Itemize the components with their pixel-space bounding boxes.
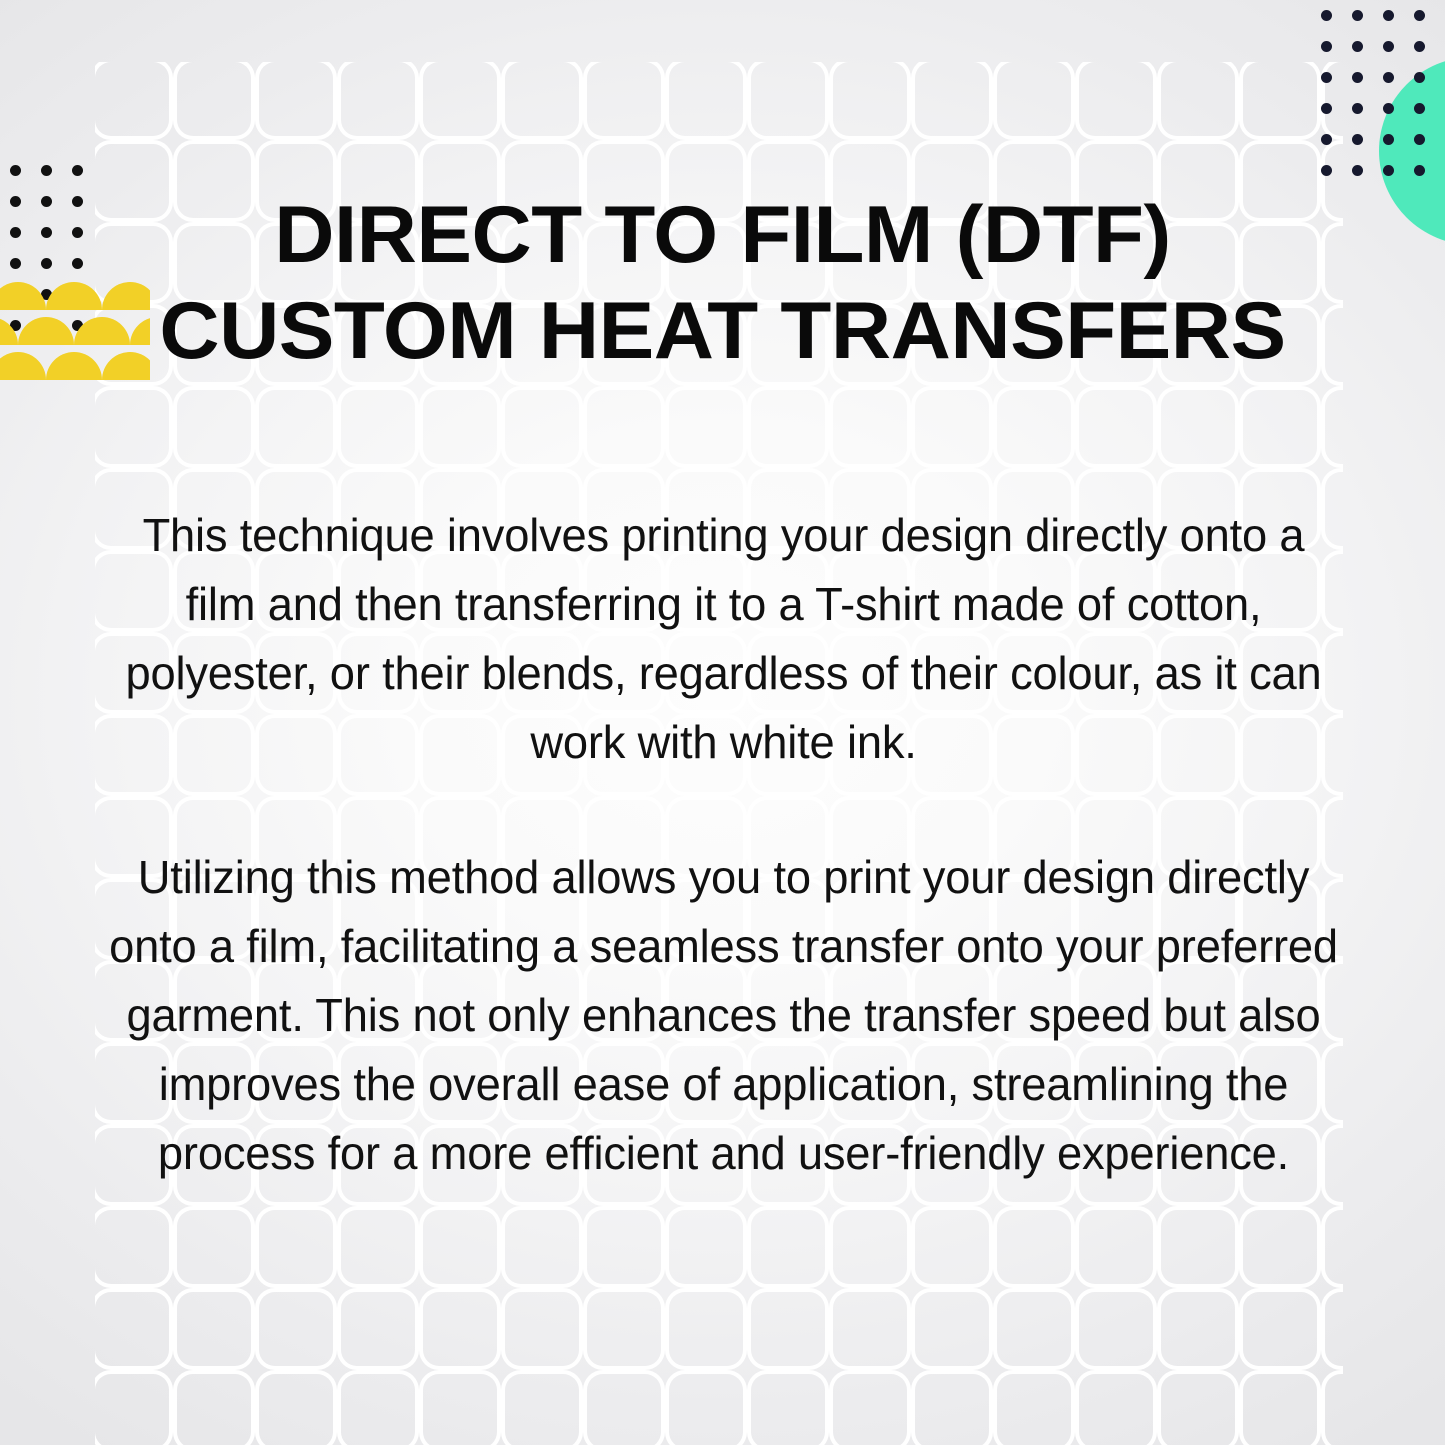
- page-title-line-1: DIRECT TO FILM (DTF): [102, 187, 1343, 283]
- body-paragraph-1: This technique involves printing your de…: [105, 501, 1341, 777]
- page-title-line-2: CUSTOM HEAT TRANSFERS: [102, 283, 1343, 379]
- page-title: DIRECT TO FILM (DTF) CUSTOM HEAT TRANSFE…: [102, 187, 1343, 379]
- poster-canvas: DIRECT TO FILM (DTF) CUSTOM HEAT TRANSFE…: [0, 0, 1445, 1445]
- body-paragraph-2: Utilizing this method allows you to prin…: [105, 843, 1341, 1188]
- poster-content: DIRECT TO FILM (DTF) CUSTOM HEAT TRANSFE…: [0, 0, 1445, 1445]
